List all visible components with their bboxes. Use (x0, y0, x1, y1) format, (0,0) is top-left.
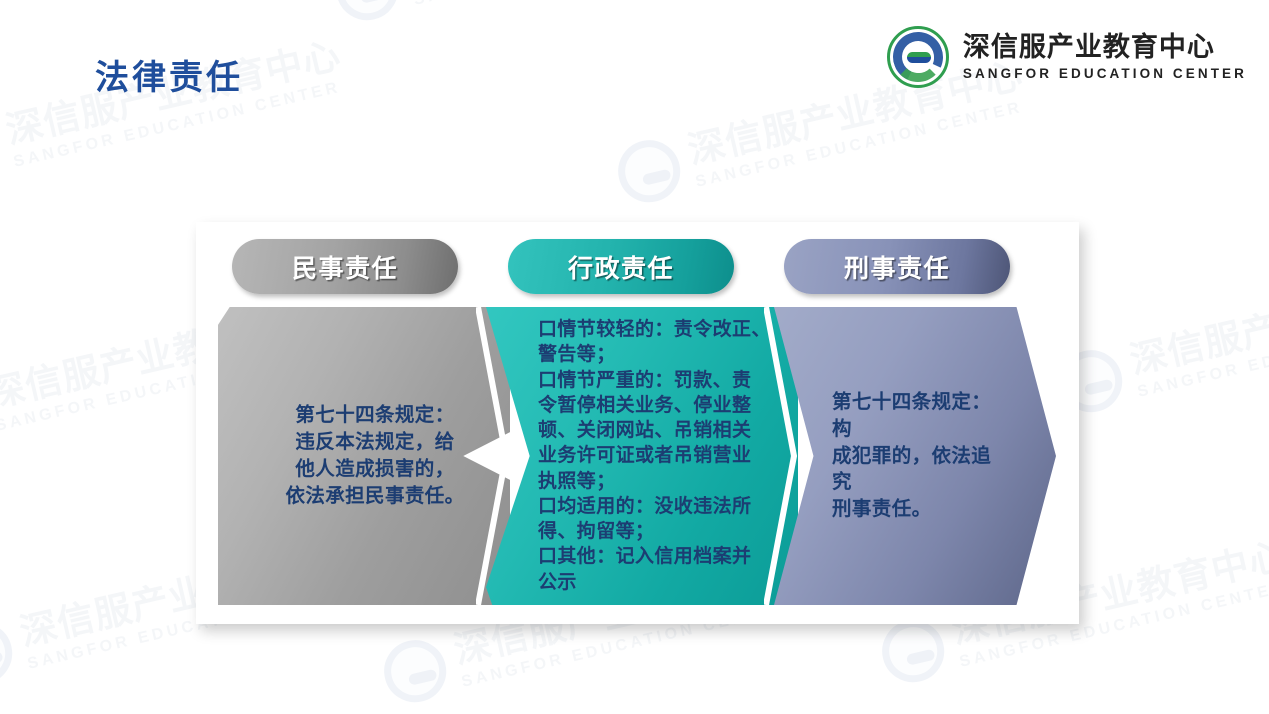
page-title: 法律责任 (95, 50, 243, 99)
chevron-stage-civil[interactable]: 第七十四条规定： 违反本法规定，给 他人造成损害的， 依法承担民事责任。 (218, 307, 510, 605)
watermark-text-en: SANGFOR EDUCATION CENTER (694, 98, 1031, 191)
watermark-text-en: SANGFOR EDUCATION CENTER (1136, 308, 1269, 401)
sangfor-watermark-badge-icon (378, 634, 452, 708)
brand-logo: 深信服产业教育中心 SANGFOR EDUCATION CENTER (887, 26, 1247, 88)
chevron-stage-criminal[interactable]: 第七十四条规定：构 成犯罪的，依法追究 刑事责任。 (774, 307, 1056, 605)
chevron-body-text: 口情节较轻的：责令改正、 警告等； 口情节严重的：罚款、责 令暂停相关业务、停业… (486, 317, 781, 595)
watermark-tile: 深信服产业教育中心 SANGFOR EDUCATION CENTER (330, 0, 749, 26)
sangfor-watermark-badge-icon (0, 616, 18, 690)
stage-pill-label: 刑事责任 (844, 249, 950, 285)
watermark-text-en: SANGFOR EDUCATION CENTER (412, 0, 749, 8)
stage-pill-administrative[interactable]: 行政责任 (508, 239, 734, 294)
liability-diagram-card: 民事责任 行政责任 刑事责任 第七十四条规定： 违反本法规定，给 他人造成损害的… (196, 222, 1079, 624)
stage-pill-label: 民事责任 (292, 249, 398, 285)
sangfor-watermark-badge-icon (612, 134, 686, 208)
watermark-tile: 深信服产业教育中心 SANGFOR EDUCATION CENTER (1054, 264, 1269, 418)
chevron-body-text: 第七十四条规定： 违反本法规定，给 他人造成损害的， 依法承担民事责任。 (218, 402, 510, 510)
sangfor-watermark-badge-icon (330, 0, 404, 26)
stage-pill-label: 行政责任 (568, 249, 674, 285)
sangfor-watermark-badge-icon (0, 114, 4, 188)
stage-pill-criminal[interactable]: 刑事责任 (784, 239, 1010, 294)
chevron-stage-administrative[interactable]: 口情节较轻的：责令改正、 警告等； 口情节严重的：罚款、责 令暂停相关业务、停业… (486, 307, 798, 605)
brand-name-en: SANGFOR EDUCATION CENTER (963, 66, 1247, 81)
brand-name-cn: 深信服产业教育中心 (963, 33, 1247, 62)
sangfor-watermark-badge-icon (876, 614, 950, 688)
stage-pill-civil[interactable]: 民事责任 (232, 239, 458, 294)
chevron-band: 第七十四条规定： 违反本法规定，给 他人造成损害的， 依法承担民事责任。 口情节… (218, 307, 1056, 605)
chevron-body-text: 第七十四条规定：构 成犯罪的，依法追究 刑事责任。 (774, 389, 1056, 524)
sangfor-circular-logo-icon (887, 26, 949, 88)
watermark-text-cn: 深信服产业教育中心 (1126, 266, 1269, 379)
